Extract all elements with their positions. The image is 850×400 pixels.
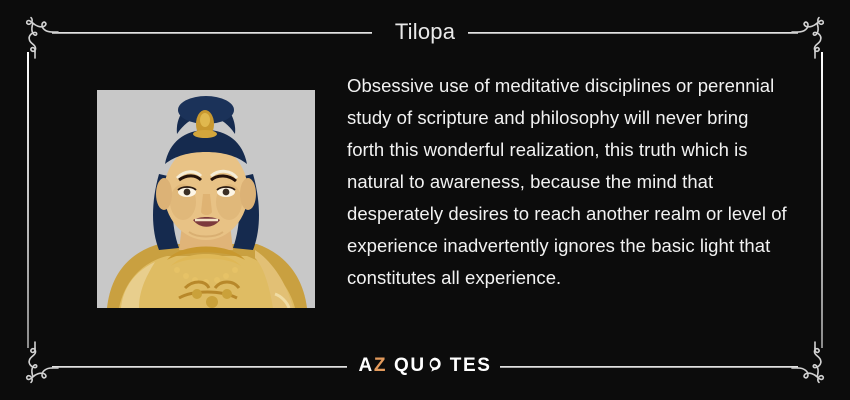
logo-letter-a: A (358, 352, 373, 380)
frame-border-right (821, 52, 823, 348)
quote-card: Tilopa (0, 0, 850, 400)
page-title: Tilopa (0, 18, 850, 46)
speech-bubble-o-icon (427, 357, 442, 372)
logo-quotes-prefix: QU (394, 352, 426, 380)
author-portrait (97, 90, 315, 308)
logo-letter-z: Z (374, 352, 387, 380)
quote-body: Obsessive use of meditative disciplines … (97, 90, 782, 310)
frame-border-left (27, 52, 29, 348)
buddhist-statue-photo (97, 90, 315, 308)
quote-text: Obsessive use of meditative disciplines … (347, 70, 787, 294)
brand-logo[interactable]: AZQUTES (0, 352, 850, 380)
logo-quotes-suffix: TES (450, 352, 492, 380)
